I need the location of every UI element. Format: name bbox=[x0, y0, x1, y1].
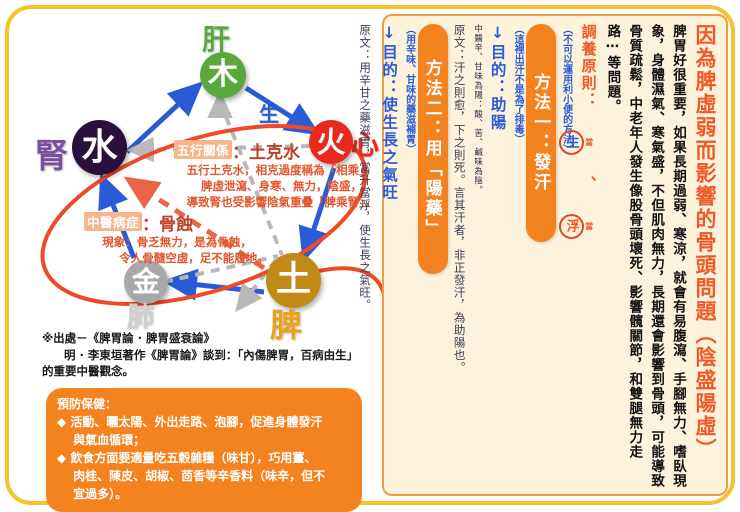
principle-label: 調養原則： bbox=[580, 24, 598, 109]
symptom-line-2: 令人骨髓空虛，足不能履地。 bbox=[62, 251, 292, 267]
vertical-text-columns: 因為脾虛弱而影響的骨頭問題（陰盛陽虛） 脾胃好很重要，如果長期過弱、寒涼，就會有… bbox=[384, 16, 726, 494]
prevention-title: 預防保健： bbox=[57, 395, 351, 413]
prevention-item-3: ◆ 飲食方面要適量吃五穀雜糧（味甘），巧用薑、 bbox=[57, 449, 351, 467]
method1-hand-note: 中醫辛、甘味為陽：酸、苦、鹹味為陰。 bbox=[472, 24, 484, 488]
prevention-box: 預防保健： ◆ 活動、曬太陽、外出走路、泡腳，促進身體發汗 與氣血循環； ◆ 飲… bbox=[46, 388, 362, 512]
circled-sheng: 生 bbox=[559, 130, 584, 155]
element-node-water: 水 bbox=[72, 120, 127, 175]
edge-label-sheng: 生 bbox=[259, 98, 279, 127]
element-node-wood: 木 bbox=[200, 52, 246, 98]
prevention-item-1: ◆ 活動、曬太陽、外出走路、泡腳，促進身體發汗 bbox=[57, 413, 351, 431]
principle-block: 調養原則： 當 生 、 當 浮 bbox=[576, 24, 600, 488]
five-element-diagram: 肝 木 心 火 土 脾 金 肺 腎 水 生 五行關係：土克水 五行土克水，相克過… bbox=[14, 10, 386, 500]
element-earth-char: 土 bbox=[276, 263, 311, 298]
method2-goal: ↓目的：使生長之氣旺 bbox=[378, 24, 400, 488]
method1-goal: ↓目的：助陽 bbox=[487, 24, 509, 488]
organ-label-lung: 肺 bbox=[127, 295, 154, 334]
element-metal-char: 金 bbox=[132, 268, 160, 296]
method1-goal-note: （這裡出汗不是為了排毒） bbox=[511, 24, 524, 488]
source-citation: ※出處－《脾胃論 · 脾胃盛衰論》 明 · 李東垣著作《脾胃論》談到：「內傷脾胃… bbox=[42, 330, 372, 380]
tcm-symptom-note: 中醫病症：骨蝕 現象：骨乏無力，是為骨蝕， 令人骨髓空虛，足不能履地。 bbox=[62, 210, 292, 267]
source-line-1: ※出處－《脾胃論 · 脾胃盛衰論》 bbox=[42, 331, 215, 345]
method2-pill: 方法二：用「陽藥」 bbox=[418, 24, 448, 274]
method1-original: 原文：汗之則愈，下之則死。言其汗者，非正發汗，為助陽也。 bbox=[453, 24, 469, 488]
circled-fu: 浮 bbox=[559, 214, 584, 239]
screenshot-root: 肝 木 心 火 土 脾 金 肺 腎 水 生 五行關係：土克水 五行土克水，相克過… bbox=[0, 0, 740, 510]
element-wood-char: 木 bbox=[208, 60, 238, 90]
element-water-char: 水 bbox=[81, 130, 117, 166]
dang-label-1: 當 bbox=[584, 138, 595, 148]
symptom-line-1: 現象：骨乏無力，是為骨蝕， bbox=[62, 235, 292, 251]
method2-original: 原文：用辛甘之藥滋胃，當升當浮，使生長之氣旺。 bbox=[358, 24, 374, 488]
symptom-head: ：骨蝕 bbox=[142, 215, 193, 235]
prevention-item-4: 肉桂、陳皮、胡椒、茴香等辛香料（味辛，但不 bbox=[57, 467, 351, 485]
wuxing-head: ：土克水 bbox=[232, 143, 300, 163]
symptom-chip: 中醫病症 bbox=[84, 212, 142, 231]
prevention-item-5: 宜過多）。 bbox=[57, 485, 351, 503]
method2-goal-note: （用辛味、甘味的藥滋補胃） bbox=[402, 24, 415, 488]
panel-title: 因為脾虛弱而影響的骨頭問題（陰盛陽虛） bbox=[690, 24, 720, 488]
principle-mark-fu: 當 浮 bbox=[559, 213, 595, 240]
explanation-panel: 因為脾虛弱而影響的骨頭問題（陰盛陽虛） 脾胃好很重要，如果長期過弱、寒涼，就會有… bbox=[382, 14, 728, 496]
panel-body-text: 脾胃好很重要，如果長期過弱、寒涼，就會有易腹瀉、手腳無力、嗜臥現象，身體濕氣、寒… bbox=[601, 24, 688, 488]
method1-pill: 方法一：發汗 bbox=[526, 24, 556, 242]
principle-mark-sheng: 當 生 bbox=[559, 129, 595, 156]
source-line-3: 的重要中醫觀念。 bbox=[42, 364, 134, 378]
prevention-item-2: 與氣血循環； bbox=[57, 431, 351, 449]
dang-label-2: 當 bbox=[584, 222, 595, 232]
principle-separator: 、 bbox=[580, 176, 598, 193]
wuxing-chip: 五行關係 bbox=[174, 140, 232, 159]
source-line-2: 明 · 李東垣著作《脾胃論》談到：「內傷脾胃，百病由生」 bbox=[42, 347, 372, 364]
organ-label-kidney: 腎 bbox=[35, 129, 68, 177]
